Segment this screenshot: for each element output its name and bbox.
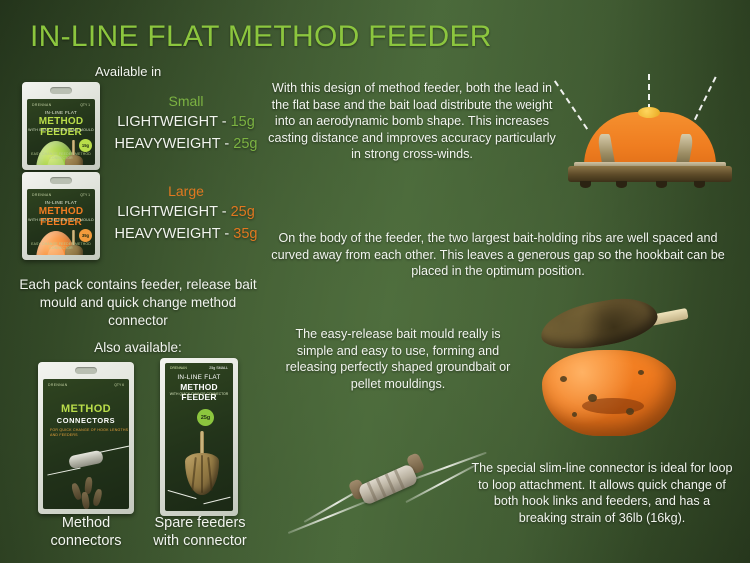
packshot-small-card: DRENNAN QTY 1 IN-LINE FLAT METHOD FEEDER… <box>27 99 95 165</box>
connector-ring <box>385 473 396 493</box>
brand-label: DRENNAN <box>32 193 52 197</box>
spec-row-heavyweight: HEAVYWEIGHT - 25g <box>96 133 276 155</box>
bait-speck <box>572 412 577 417</box>
spec-label: LIGHTWEIGHT - <box>117 114 230 130</box>
connector-illustration <box>68 450 104 470</box>
spec-label: LIGHTWEIGHT - <box>117 204 230 220</box>
bait-speck <box>626 408 634 415</box>
hang-hole <box>50 177 72 184</box>
packshot-spare-feeders-card: DRENNAN 25g SMALL IN-LINE FLAT METHOD FE… <box>165 363 233 511</box>
spec-row-lightweight: LIGHTWEIGHT - 25g <box>96 201 276 223</box>
spec-row-heavyweight: HEAVYWEIGHT - 35g <box>96 223 276 245</box>
available-in-label: Available in <box>95 64 161 79</box>
base-foot <box>656 181 667 188</box>
base-foot <box>616 181 627 188</box>
connector-ring <box>394 469 405 489</box>
packshot-small: DRENNAN QTY 1 IN-LINE FLAT METHOD FEEDER… <box>22 82 100 170</box>
spec-value: 25g <box>233 136 257 152</box>
pack-contents-note: Each pack contains feeder, release bait … <box>18 276 258 330</box>
pack-line-3: WITH QUICK CHANGE CONNECTOR <box>165 392 233 396</box>
weight-badge: 25g <box>197 409 214 426</box>
size-name-large: Large <box>96 182 276 201</box>
packshot-large-card: DRENNAN QTY 1 IN-LINE FLAT METHOD FEEDER… <box>27 189 95 255</box>
packshot-method-connectors: DRENNAN QTY 6 METHOD CONNECTORS FOR QUIC… <box>38 362 134 514</box>
brand-label: DRENNAN <box>170 366 187 370</box>
feeder-rib <box>191 457 196 491</box>
bait-speck <box>588 394 597 402</box>
photo-cutaway-feeder <box>560 98 740 188</box>
base-foot <box>580 181 591 188</box>
line-left <box>47 467 81 475</box>
bead <box>92 488 103 506</box>
groundbait-moulding <box>537 292 661 356</box>
bait-speck <box>560 376 567 382</box>
size-name-small: Small <box>96 92 276 111</box>
feeder-rib <box>201 455 203 493</box>
pack-blurb: FOR QUICK CHANGE OF HOOK LENGTHS AND FEE… <box>50 428 129 437</box>
pack-subtitle: WITH EASY RELEASE BAIT MOULD <box>27 128 95 132</box>
page-title: IN-LINE FLAT METHOD FEEDER <box>30 20 492 54</box>
callout-line-left <box>554 80 588 129</box>
base-foot <box>694 181 705 188</box>
spec-label: HEAVYWEIGHT - <box>115 226 234 242</box>
spec-label: HEAVYWEIGHT - <box>115 136 234 152</box>
photo-bait-mould <box>520 300 720 450</box>
hookbait-pellet <box>638 107 660 118</box>
connector-ring <box>366 481 377 501</box>
spec-value: 35g <box>233 226 257 242</box>
spec-value: 25g <box>231 204 255 220</box>
spec-value: 15g <box>231 114 255 130</box>
qty-label: 25g SMALL <box>209 366 228 370</box>
pack-superline: IN-LINE FLAT <box>27 110 95 115</box>
connector-ring <box>376 477 387 497</box>
pack-line-1: IN-LINE FLAT <box>165 374 233 381</box>
packshot-method-connectors-card: DRENNAN QTY 6 METHOD CONNECTORS FOR QUIC… <box>43 379 129 509</box>
bead <box>81 492 90 509</box>
packshot-spare-feeders: DRENNAN 25g SMALL IN-LINE FLAT METHOD FE… <box>160 358 238 516</box>
pack-title: METHOD FEEDER <box>27 116 95 138</box>
loop-line-lower-left <box>288 500 368 534</box>
qty-label: QTY 1 <box>80 103 90 107</box>
spec-block-small: Small LIGHTWEIGHT - 15g HEAVYWEIGHT - 25… <box>96 92 276 155</box>
orange-bait-mould <box>542 350 676 436</box>
pack-subtitle: WITH EASY RELEASE BAIT MOULD <box>27 218 95 222</box>
hang-hole <box>75 367 97 374</box>
product-infographic: IN-LINE FLAT METHOD FEEDER Available in … <box>0 0 750 563</box>
feeder-illustration <box>185 431 219 495</box>
paragraph-connector: The special slim-line connector is ideal… <box>468 460 736 526</box>
bait-speck <box>638 370 644 375</box>
connector-beads <box>73 477 113 509</box>
pack-title-secondary: CONNECTORS <box>43 416 129 425</box>
brand-label: DRENNAN <box>48 383 68 387</box>
pack-superline: IN-LINE FLAT <box>27 200 95 205</box>
pack-footer: EASY CHANGE FEEDER METHOD CONNECTOR <box>27 152 95 160</box>
qty-label: QTY 6 <box>114 383 124 387</box>
hang-hole <box>50 87 72 94</box>
caption-method-connectors: Method connectors <box>38 514 134 550</box>
packshot-large: DRENNAN QTY 1 IN-LINE FLAT METHOD FEEDER… <box>22 172 100 260</box>
qty-label: QTY 1 <box>80 193 90 197</box>
pack-footer: EASY CHANGE FEEDER METHOD CONNECTOR <box>27 242 95 250</box>
feeder-rib <box>207 457 212 491</box>
line-right <box>203 496 231 504</box>
pack-title: METHOD <box>43 403 129 415</box>
also-available-heading: Also available: <box>18 340 258 355</box>
paragraph-ribs: On the body of the feeder, the two large… <box>258 230 738 280</box>
caption-spare-feeders: Spare feeders with connector <box>150 514 250 550</box>
brand-label: DRENNAN <box>32 103 52 107</box>
pack-title: METHOD FEEDER <box>27 206 95 228</box>
callout-line-center <box>648 74 650 110</box>
feeder-body <box>185 453 219 495</box>
spec-block-large: Large LIGHTWEIGHT - 25g HEAVYWEIGHT - 35… <box>96 182 276 245</box>
spec-row-lightweight: LIGHTWEIGHT - 15g <box>96 111 276 133</box>
paragraph-aerodynamic: With this design of method feeder, both … <box>268 80 556 163</box>
lead-flat-base <box>568 166 732 182</box>
paragraph-mould: The easy-release bait mould really is si… <box>280 326 516 392</box>
